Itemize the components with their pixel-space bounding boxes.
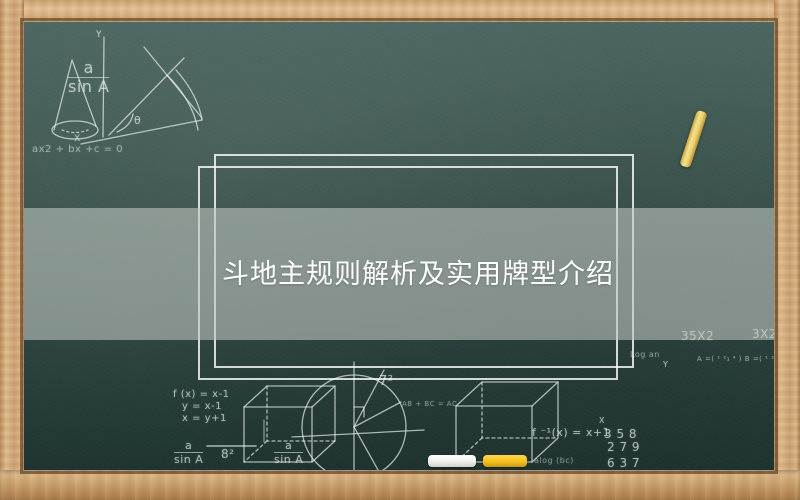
fraction-denominator: sin A: [274, 452, 303, 466]
screenshot-root: Y X θ a sin A ax2 + bx +c = 0 f (x) = x-…: [0, 0, 800, 500]
frame-right-rail: [774, 0, 800, 500]
chalk-axis-x-label-2: X: [599, 416, 605, 425]
chalk-fx-line-2: y = x-1: [182, 401, 222, 412]
frame-top-rail: [0, 0, 800, 22]
chalk-division-dividend: 3 5 8: [604, 427, 637, 441]
fraction-numerator: a: [274, 440, 303, 452]
chalk-angle-theta: θ: [134, 114, 141, 127]
yellow-chalk-icon: [679, 110, 707, 169]
yellow-chalk-tray-icon: [483, 455, 527, 467]
chalk-division-result: 6 3 7: [607, 456, 640, 470]
chalk-law-of-sines-2: a sin A: [174, 440, 203, 465]
fraction-numerator: a: [68, 60, 109, 77]
chalk-alog-bc: alog (bc): [534, 456, 574, 465]
chalkboard-surface: Y X θ a sin A ax2 + bx +c = 0 f (x) = x-…: [24, 22, 774, 470]
white-chalk-tray-icon: [428, 455, 476, 467]
chalk-axis-x-label: X: [74, 134, 81, 144]
chalk-fx-line-3: x = y+1: [182, 413, 227, 424]
chalk-vector-sum: AB + BC = AC: [402, 400, 457, 408]
fraction-numerator: a: [174, 440, 203, 452]
cube-right-icon: [456, 382, 558, 462]
chalk-matrix-row: A =( ¹ ²₃ ⁴ ) B =( ¹ ² ) I =( ¹ ⁰ ): [697, 355, 774, 363]
chalk-fx-line-1: f (x) = x-1: [173, 389, 230, 400]
chalk-law-of-sines-1: a sin A: [68, 60, 109, 96]
frame-left-rail: [0, 0, 24, 500]
chalk-division-divisor: 2 7 9: [607, 440, 640, 454]
chalk-eight-squared: 8²: [221, 447, 234, 461]
title-overlay-band: 斗地主规则解析及实用牌型介绍: [24, 208, 774, 340]
fraction-denominator: sin A: [174, 452, 203, 466]
chalk-law-of-sines-3: a sin A: [274, 440, 303, 465]
chalk-quadratic-equation: ax2 + bx +c = 0: [32, 144, 123, 155]
frame-bottom-ledge: [0, 470, 800, 500]
chalk-axis-y-label-2: Y: [663, 360, 668, 369]
chalk-log-an: Log an: [630, 350, 660, 359]
page-title: 斗地主规则解析及实用牌型介绍: [222, 261, 614, 288]
chalk-axis-y-label: Y: [96, 30, 102, 40]
fraction-denominator: sin A: [68, 77, 109, 96]
chalk-inverse-function: f ⁻¹(x) = x+1: [532, 426, 610, 439]
